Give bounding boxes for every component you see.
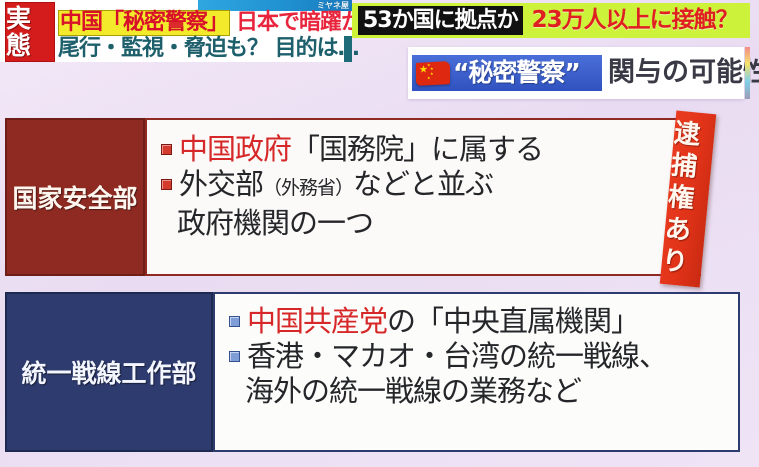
headline-accent-bar [344,36,352,62]
bullet-continuation: 海外の統一戦線の業務など [229,374,738,409]
bullet-rest: の「中央直属機関」 [387,304,639,338]
panel-1-content: 中国政府「国務院」に属する 外交部（外務省）などと並ぶ 政府機関の一つ [145,118,701,276]
panel-2-label-box: 統一戦線工作部 [5,292,213,452]
list-item: 中国政府「国務院」に属する [161,132,699,167]
bullet-text: 外交部（外務省）などと並ぶ [179,167,493,206]
topic-tag-label: 実態 [6,5,54,59]
headline-line-2: 尾行・監視・脅迫も？ 目的は… [58,36,359,61]
bullet-square-icon [229,351,240,362]
headline-strip: ミヤネ屋 実態 中国「秘密警察」 日本で暗躍か 尾行・監視・脅迫も？ 目的は… [0,0,352,62]
bullet-text: 中国共産党の「中央直属機関」 [247,304,639,339]
bullet-rest: 香港・マカオ・台湾の統一戦線、 [247,339,667,373]
bullet-square-icon [161,144,172,155]
bullet-text: 香港・マカオ・台湾の統一戦線、 [247,339,667,374]
headline-highlight-text: 中国「秘密警察」 [58,10,230,36]
bullet-rest: 外交部 [179,167,263,201]
headline-rest-text: 日本で暗躍か [236,11,362,35]
headline-line-1: 中国「秘密警察」 日本で暗躍か [58,10,362,36]
bullet-continuation: 政府機関の一つ [161,206,699,241]
list-item: 外交部（外務省）などと並ぶ [161,167,699,206]
lime-banner-red-segment: 23万人以上に接触？ [532,6,738,35]
involvement-possibility-label: 関与の可能性 [608,52,759,94]
secret-police-label: “秘密警察” [453,58,580,88]
list-item: 中国共産党の「中央直属機関」 [229,304,738,339]
bullet-square-icon [229,316,240,327]
panel-state-security: 国家安全部 中国政府「国務院」に属する 外交部（外務省）などと並ぶ 政府機関の一… [5,118,701,276]
bullet-rest: 「国務院」に属する [291,132,543,166]
lime-banner-dark-segment: 53か国に拠点か [358,6,523,35]
list-item: 香港・マカオ・台湾の統一戦線、 [229,339,738,374]
bullet-emphasis: 中国政府 [179,132,291,166]
panel-1-label-box: 国家安全部 [5,118,145,276]
lime-banner: 53か国に拠点か 23万人以上に接触？ [352,3,750,38]
bullet-tail: などと並ぶ [353,167,493,201]
panel-2-label-text: 統一戦線工作部 [21,354,196,390]
panel-1-label-text: 国家安全部 [12,179,137,215]
panel-united-front: 統一戦線工作部 中国共産党の「中央直属機関」 香港・マカオ・台湾の統一戦線、 海… [5,292,740,452]
bullet-paren: （外務省） [263,177,353,199]
china-flag-icon: ★ ★ ★ ★ ★ [416,61,450,86]
bullet-emphasis: 中国共産党 [247,304,387,338]
bullet-square-icon [161,179,172,190]
color-stripe-decoration [745,47,750,99]
bullet-text: 中国政府「国務院」に属する [179,132,543,167]
topic-tag-badge: 実態 [5,2,55,62]
panel-2-content: 中国共産党の「中央直属機関」 香港・マカオ・台湾の統一戦線、 海外の統一戦線の業… [213,292,740,452]
flag-star-4: ★ [427,76,431,80]
secret-police-highlight-block: ★ ★ ★ ★ ★ “秘密警察” [412,55,602,91]
